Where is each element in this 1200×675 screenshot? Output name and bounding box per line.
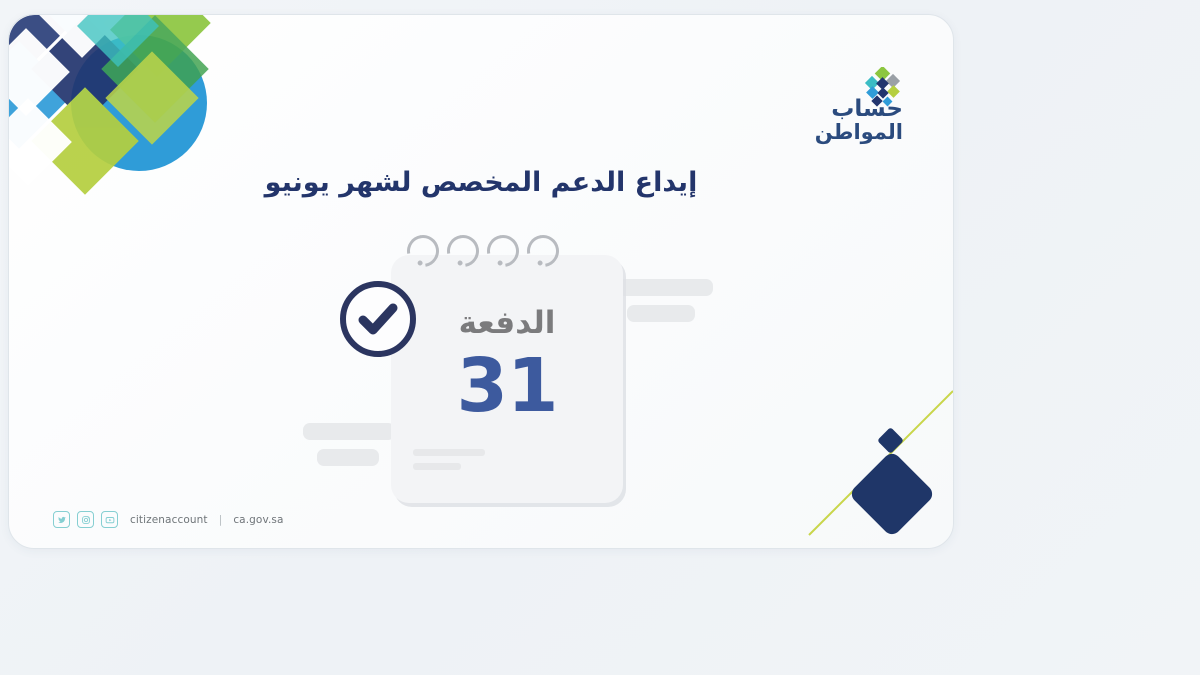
logo-line-1: حساب bbox=[831, 96, 903, 122]
calendar-placeholder-line-2 bbox=[413, 463, 461, 470]
instagram-icon[interactable] bbox=[77, 511, 94, 528]
calendar-placeholder-line-1 bbox=[413, 449, 485, 456]
announcement-headline: إيداع الدعم المخصص لشهر يونيو bbox=[9, 167, 953, 198]
speed-line-4 bbox=[317, 449, 379, 466]
speed-line-1 bbox=[615, 279, 713, 296]
footer-website: ca.gov.sa bbox=[233, 514, 283, 526]
footer-separator: | bbox=[219, 513, 223, 526]
screenshot-stage: حساب المواطن إيداع الدعم المخصص لشهر يون… bbox=[0, 0, 1200, 675]
corner-diamond-decoration bbox=[793, 383, 953, 548]
footer-bar: citizenaccount | ca.gov.sa bbox=[53, 511, 284, 528]
speed-line-3 bbox=[303, 423, 395, 440]
footer-handle: citizenaccount bbox=[130, 514, 208, 526]
brand-logo-wordmark: حساب المواطن bbox=[815, 98, 903, 143]
twitter-icon[interactable] bbox=[53, 511, 70, 528]
payment-label: الدفعة bbox=[391, 305, 623, 341]
speed-line-2 bbox=[627, 305, 695, 322]
youtube-icon[interactable] bbox=[101, 511, 118, 528]
announcement-card: حساب المواطن إيداع الدعم المخصص لشهر يون… bbox=[8, 14, 954, 549]
calendar-illustration: الدفعة 31 bbox=[295, 227, 715, 517]
logo-line-2: المواطن bbox=[815, 122, 903, 144]
brand-logo: حساب المواطن bbox=[779, 67, 909, 145]
payment-number: 31 bbox=[391, 343, 623, 429]
